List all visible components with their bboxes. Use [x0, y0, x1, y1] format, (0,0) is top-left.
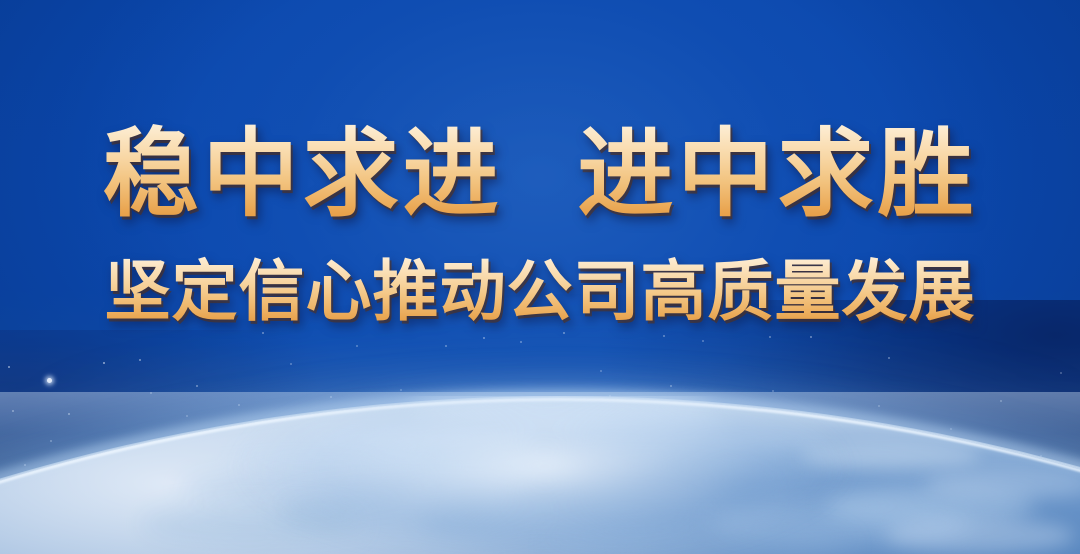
promo-banner: 稳中求进 进中求胜 坚定信心推动公司高质量发展: [0, 0, 1080, 554]
sky-background: [0, 0, 1080, 554]
